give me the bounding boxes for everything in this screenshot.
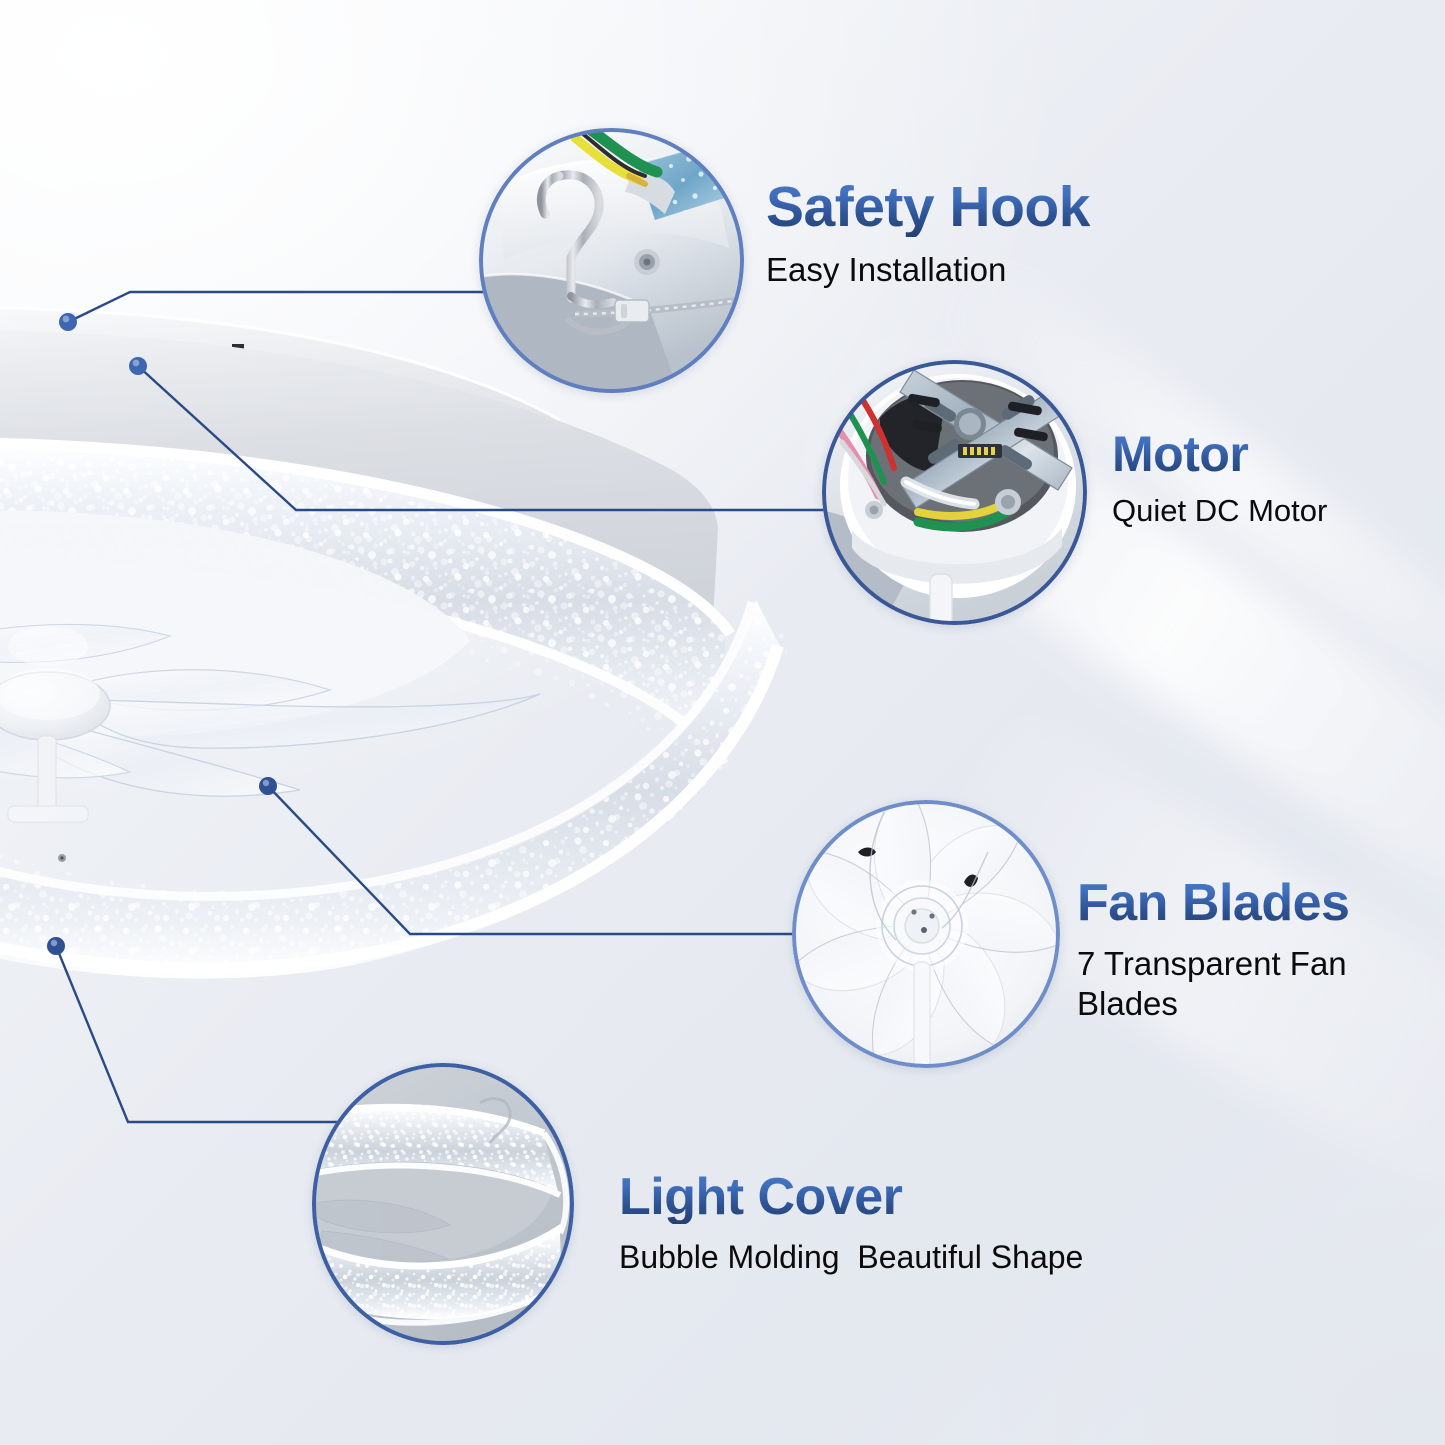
leader-dots [47,313,277,955]
callout-subtitle-fan-blades: 7 Transparent Fan Blades [1077,944,1377,1025]
bubble-molding-light-cover-photo [312,1063,574,1345]
transparent-fan-blades-photo [792,800,1060,1068]
callout-circle-motor [822,360,1087,625]
leader-dot-fan-blades [259,777,277,795]
callout-heading-fan-blades: Fan Blades [1077,876,1377,930]
callout-subtitle-safety-hook: Easy Installation [766,250,1090,290]
leader-line-motor [138,366,940,510]
callout-heading-motor: Motor [1112,428,1327,480]
callout-text-light-cover: Light Cover Bubble Molding Beautiful Sha… [619,1170,1083,1277]
callout-circle-light-cover [312,1063,574,1345]
callout-heading-light-cover: Light Cover [619,1170,1083,1224]
dc-motor-mounting-bracket-photo [822,360,1087,625]
leader-dot-light-cover [47,937,65,955]
callout-circle-fan-blades [792,800,1060,1068]
leader-dot-safety-hook [59,313,77,331]
callout-subtitle-motor: Quiet DC Motor [1112,492,1327,530]
leader-dot-motor [129,357,147,375]
callout-subtitle-light-cover: Bubble Molding Beautiful Shape [619,1238,1083,1277]
callout-text-fan-blades: Fan Blades 7 Transparent Fan Blades [1077,876,1377,1025]
callout-text-motor: Motor Quiet DC Motor [1112,428,1327,530]
callout-heading-safety-hook: Safety Hook [766,178,1090,237]
safety-hook-closeup-photo [479,128,744,393]
callout-circle-safety-hook [479,128,744,393]
infographic-canvas: Safety Hook Easy Installation [0,0,1445,1445]
callout-text-safety-hook: Safety Hook Easy Installation [766,178,1090,291]
